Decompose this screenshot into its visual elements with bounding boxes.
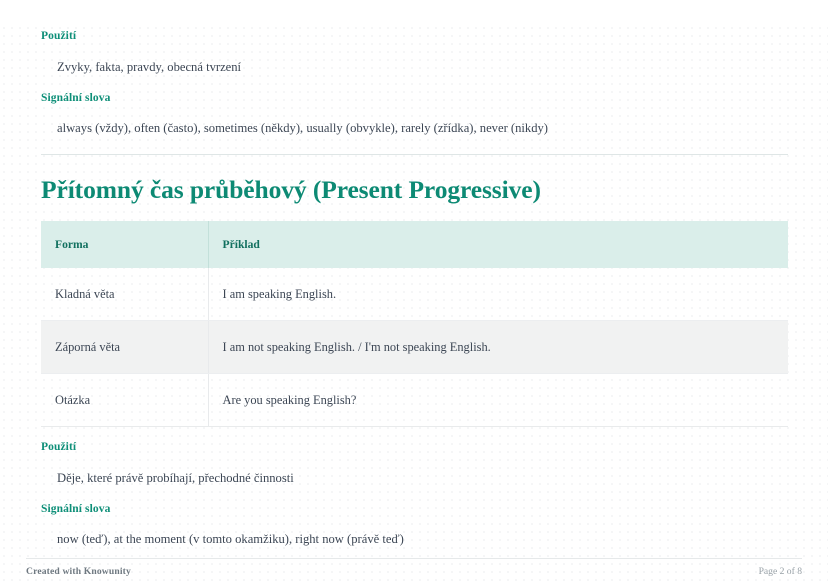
cell-forma: Záporná věta [41, 321, 208, 374]
forms-table: Forma Příklad Kladná věta I am speaking … [41, 221, 788, 427]
footer-page-number: Page 2 of 8 [759, 566, 802, 577]
cell-forma: Kladná věta [41, 268, 208, 321]
table-body: Kladná věta I am speaking English. Zápor… [41, 268, 788, 427]
usage-label-present-simple: Použití [41, 30, 76, 42]
table-row: Otázka Are you speaking English? [41, 374, 788, 427]
signal-words-label-present-progressive: Signální slova [41, 503, 110, 515]
table-header-priklad: Příklad [208, 221, 788, 268]
footer-attribution: Created with Knowunity [26, 566, 131, 577]
table-head: Forma Příklad [41, 221, 788, 268]
table-row: Záporná věta I am not speaking English. … [41, 321, 788, 374]
document-page: Použití Zvyky, fakta, pravdy, obecná tvr… [0, 0, 828, 586]
cell-priklad: I am speaking English. [208, 268, 788, 321]
cell-forma: Otázka [41, 374, 208, 427]
cell-priklad: I am not speaking English. / I'm not spe… [208, 321, 788, 374]
page-top-margin [0, 0, 828, 22]
table-row: Kladná věta I am speaking English. [41, 268, 788, 321]
usage-label-present-progressive: Použití [41, 441, 76, 453]
signal-words-text-present-progressive: now (teď), at the moment (v tomto okamži… [57, 532, 404, 547]
footer-divider-rule [26, 558, 802, 559]
signal-words-label-present-simple: Signální slova [41, 92, 110, 104]
cell-priklad: Are you speaking English? [208, 374, 788, 427]
section-divider-rule [41, 154, 788, 155]
signal-words-text-present-simple: always (vždy), often (často), sometimes … [57, 121, 548, 136]
table-header-forma: Forma [41, 221, 208, 268]
usage-text-present-simple: Zvyky, fakta, pravdy, obecná tvrzení [57, 60, 241, 75]
page-title: Přítomný čas průběhový (Present Progress… [41, 175, 541, 205]
usage-text-present-progressive: Děje, které právě probíhají, přechodné č… [57, 471, 294, 486]
table-header-row: Forma Příklad [41, 221, 788, 268]
